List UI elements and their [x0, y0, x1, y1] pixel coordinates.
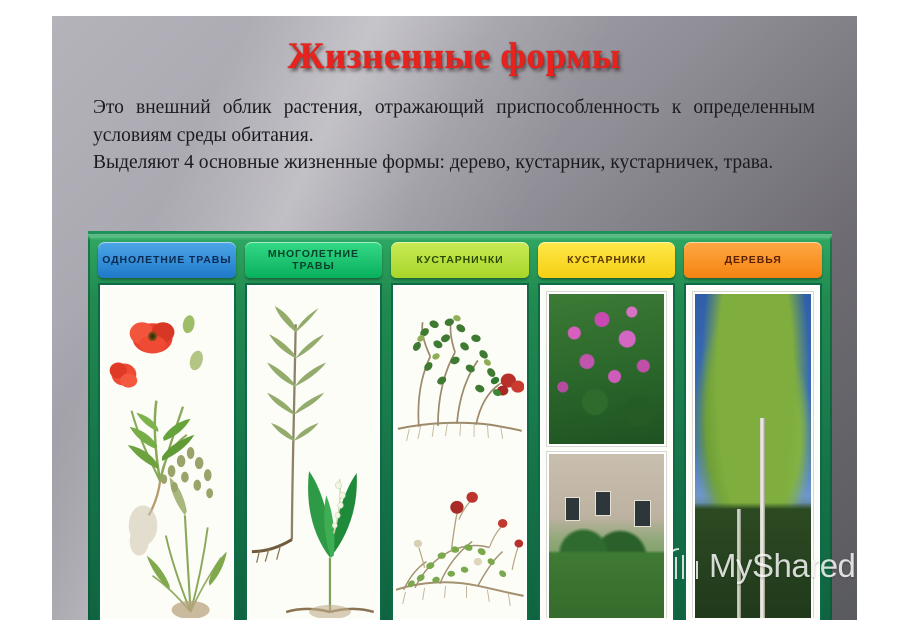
drawing-dwarf-shrubs — [396, 288, 524, 618]
photo-flowering-shrub — [547, 292, 667, 446]
panel-mnogoletnie-travy — [245, 283, 383, 620]
poppy-grass-illustration — [103, 288, 231, 618]
tab-mnogoletnie-travy[interactable]: МНОГОЛЕТНИЕ ТРАВЫ — [245, 242, 383, 278]
life-forms-board: ОДНОЛЕТНИЕ ТРАВЫ МНОГОЛЕТНИЕ ТРАВЫ КУСТА… — [88, 231, 832, 620]
slide-body-text: Это внешний облик растения, отражающий п… — [93, 94, 815, 177]
category-tabs: ОДНОЛЕТНИЕ ТРАВЫ МНОГОЛЕТНИЕ ТРАВЫ КУСТА… — [98, 242, 822, 278]
panel-odnoletnie-travy — [98, 283, 236, 620]
category-panels — [98, 283, 822, 620]
window-icon — [595, 491, 611, 516]
perennial-herbs-illustration — [250, 288, 378, 618]
tab-kustarniki[interactable]: КУСТАРНИКИ — [538, 242, 676, 278]
presentation-slide: Жизненные формы Это внешний облик растен… — [52, 16, 857, 620]
drawing-poppy-and-grass — [103, 288, 231, 618]
photos-shrubs — [543, 288, 671, 618]
photo-birch-tree — [689, 288, 817, 618]
tab-derevya[interactable]: ДЕРЕВЬЯ — [684, 242, 822, 278]
body-paragraph-2: Выделяют 4 основные жизненные формы: дер… — [93, 149, 815, 177]
birch-trunk-secondary — [737, 509, 741, 618]
drawing-perennial-herbs — [250, 288, 378, 618]
photo-green-shrub-by-house — [547, 452, 667, 618]
tab-kustarnichki[interactable]: КУСТАРНИЧКИ — [391, 242, 529, 278]
tab-odnoletnie-travy[interactable]: ОДНОЛЕТНИЕ ТРАВЫ — [98, 242, 236, 278]
panel-derevya — [684, 283, 822, 620]
body-paragraph-1: Это внешний облик растения, отражающий п… — [93, 94, 815, 149]
panel-kustarnichki — [391, 283, 529, 620]
dwarf-shrubs-illustration — [396, 288, 524, 618]
birch-trunk — [760, 418, 765, 618]
photo-birch — [693, 292, 813, 618]
page-title: Жизненные формы — [52, 38, 857, 77]
window-icon — [634, 500, 651, 527]
window-icon — [565, 497, 580, 521]
panel-kustarniki — [538, 283, 676, 620]
